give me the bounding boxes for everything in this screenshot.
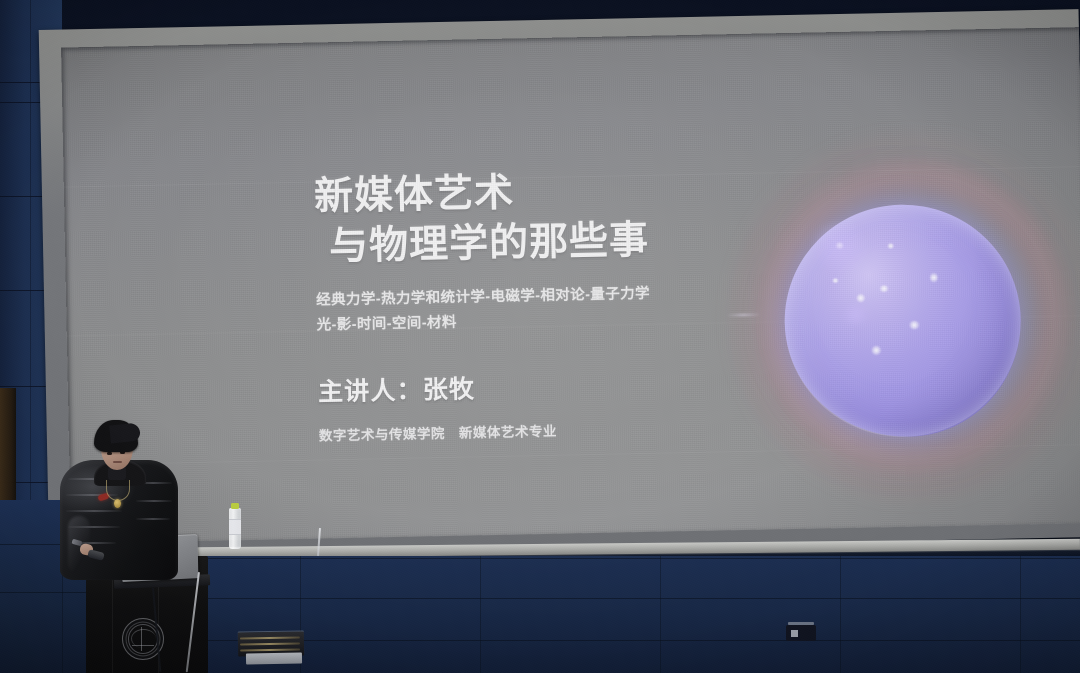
slide-title-line-2: 与物理学的那些事 [315, 214, 736, 272]
presenter [58, 420, 182, 600]
bottle-cap [231, 503, 239, 509]
slide-title-line-1: 新媒体艺术 [314, 164, 735, 222]
water-bottle [228, 503, 242, 549]
slide-text-block: 新媒体艺术 与物理学的那些事 经典力学-热力学和统计学-电磁学-相对论-量子力学… [314, 164, 739, 444]
projection-screen: 新媒体艺术 与物理学的那些事 经典力学-热力学和统计学-电磁学-相对论-量子力学… [61, 27, 1080, 543]
slide-affiliation: 数字艺术与传媒学院 新媒体艺术专业 [319, 416, 739, 444]
projection-screen-frame: 新媒体艺术 与物理学的那些事 经典力学-热力学和统计学-电磁学-相对论-量子力学… [39, 9, 1080, 558]
wall-vent-base [246, 653, 302, 665]
lecture-hall-photo: 新媒体艺术 与物理学的那些事 经典力学-热力学和统计学-电磁学-相对论-量子力学… [0, 0, 1080, 673]
glowing-purple-sphere [739, 147, 1080, 494]
pendant-icon [114, 499, 121, 508]
slide-presenter-label: 主讲人：张牧 [318, 364, 739, 408]
wall-outlet-socket [791, 630, 798, 637]
